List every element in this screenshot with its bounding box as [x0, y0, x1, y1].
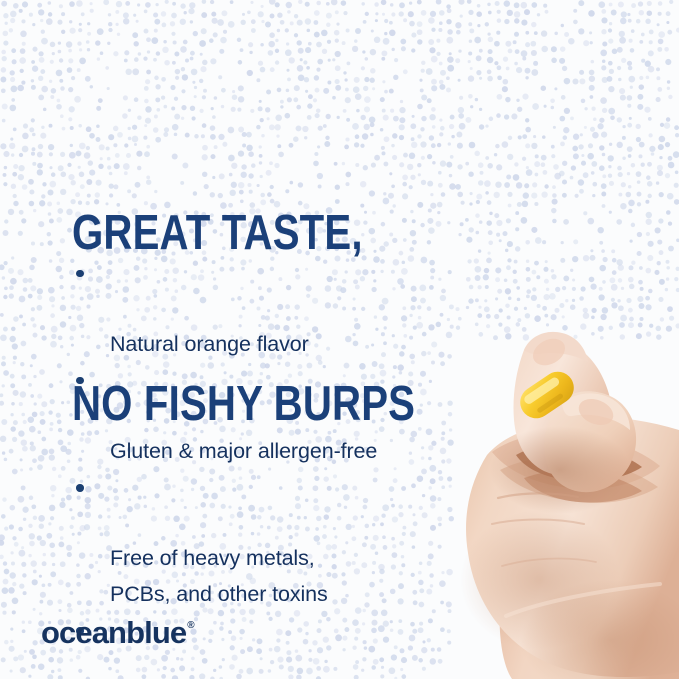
list-item: Free of heavy metals, PCBs, and other to… [72, 470, 472, 613]
bullet-dot-icon [76, 484, 84, 492]
benefit-text: Gluten & major allergen-free [110, 439, 377, 463]
capsule-shape [514, 366, 580, 425]
list-item: Gluten & major allergen-free [72, 362, 472, 469]
bullet-dot-icon [76, 377, 84, 385]
product-benefits-poster: GREAT TASTE, NO FISHY BURPS Natural oran… [0, 0, 679, 679]
headline-line-1: GREAT TASTE, [72, 205, 415, 262]
list-item: Natural orange flavor [72, 255, 472, 362]
benefit-text: Natural orange flavor [110, 332, 309, 356]
brand-logo-text: oceanblue [41, 615, 186, 650]
registered-trademark-icon: ® [187, 620, 194, 631]
bullet-dot-icon [76, 270, 84, 278]
benefit-text: Free of heavy metals, PCBs, and other to… [110, 546, 328, 606]
brand-logo: oceanblue® [41, 617, 194, 648]
